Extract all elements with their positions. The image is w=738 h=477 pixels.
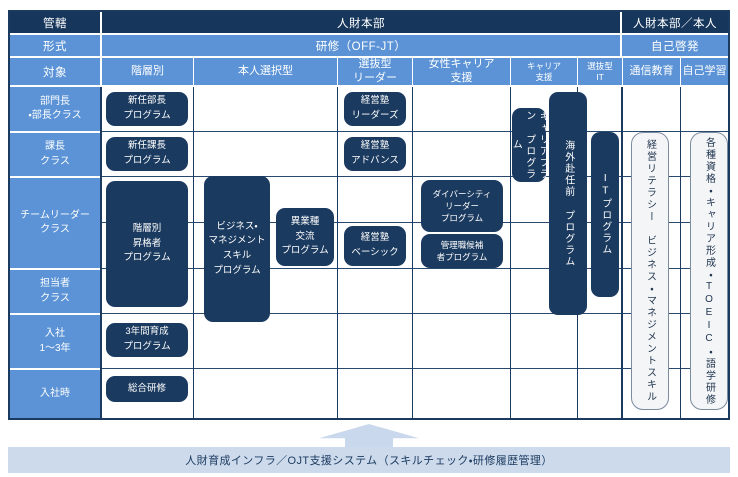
program-hierarchy-promotion[interactable]: 階層別 昇格者 プログラム [106,181,188,307]
program-keieijuku-leaders[interactable]: 経営塾 リーダーズ [344,92,406,126]
grid-vline-target [100,87,102,418]
hr-development-framework-diagram: 管轄 人財本部 人財本部／本人 形式 研修（OFF-JT） 自己啓発 対象 階層… [0,0,738,477]
header-format-offjt: 研修（OFF-JT） [102,35,620,56]
program-correspondence-education[interactable]: 経営リテラシー ビジネス・マネジメントスキル [631,132,669,410]
header-category-hierarchy: 階層別 [102,58,193,85]
program-pre-overseas-assignment[interactable]: 海外赴任前 プログラム [549,92,587,315]
program-diversity-leader[interactable]: ダイバーシティ リーダー プログラム [421,180,503,232]
program-business-management-skill[interactable]: ビジネス・ マネジメント スキル プログラム [204,176,270,322]
row-label-section-manager: 課長 クラス [10,131,100,176]
program-career-plan[interactable]: キャリアプラン プログラム [512,108,546,182]
header-label-target: 対象 [10,58,100,85]
row-label-division-general-manager: 部門長 ・部長クラス [10,87,100,131]
row-label-team-leader: チームリーダー クラス [10,176,100,268]
program-pre-overseas-assignment-label: 海外赴任前 プログラム [561,140,575,268]
header-category-women-career: 女性キャリア 支援 [412,58,510,85]
header-category-self-select: 本人選択型 [193,58,337,85]
grid-vline-self-select [337,87,338,418]
program-it[interactable]: ITプログラム [591,132,619,297]
header-category-selective-leader: 選抜型 リーダー [337,58,412,85]
program-comprehensive-training[interactable]: 総合研修 [106,376,188,402]
program-self-study-label: 各種資格・キャリア形成・TOEIC・語学研修 [703,137,716,406]
program-correspondence-education-label: 経営リテラシー ビジネス・マネジメントスキル [644,139,657,403]
header-format-self-development: 自己啓発 [622,35,728,56]
program-cross-industry-exchange[interactable]: 異業種 交流 プログラム [276,208,334,266]
header-jurisdiction-hr-division-and-self: 人財本部／本人 [622,12,728,33]
header-category-correspondence: 通信教育 [622,58,680,85]
program-self-study[interactable]: 各種資格・キャリア形成・TOEIC・語学研修 [690,132,728,410]
grid-vline-hierarchy [193,87,194,418]
header-category-selective-it: 選抜型 IT [577,58,622,85]
row-label-on-joining: 入社時 [10,368,100,418]
header-jurisdiction-hr-division: 人財本部 [102,12,620,33]
program-three-year-development[interactable]: 3年間育成 プログラム [106,323,188,357]
header-label-jurisdiction: 管轄 [10,12,100,33]
infrastructure-banner: 人財育成インフラ／OJT支援システム（スキルチェック・研修履歴管理） [8,447,730,473]
grid-vline-selective-it [621,87,623,418]
program-career-plan-label: キャリアプラン プログラム [509,108,550,182]
grid-vline-selective-leader [412,87,413,418]
header-label-format: 形式 [10,35,100,56]
program-new-division-manager[interactable]: 新任部長 プログラム [106,92,188,126]
grid-hline-1 [100,131,728,132]
program-manager-candidate[interactable]: 管理職候補 者プログラム [421,234,503,268]
program-it-label: ITプログラム [598,173,612,256]
header-category-career-support: キャリア 支援 [510,58,577,85]
row-label-first-three-years: 入社 1〜3年 [10,313,100,368]
program-keieijuku-advance[interactable]: 経営塾 アドバンス [344,137,406,171]
row-label-staff: 担当者 クラス [10,268,100,313]
program-keieijuku-basic[interactable]: 経営塾 ベーシック [344,226,406,266]
program-new-section-manager[interactable]: 新任課長 プログラム [106,137,188,171]
header-category-self-study: 自己学習 [680,58,728,85]
grid-vline-correspondence [680,87,681,418]
